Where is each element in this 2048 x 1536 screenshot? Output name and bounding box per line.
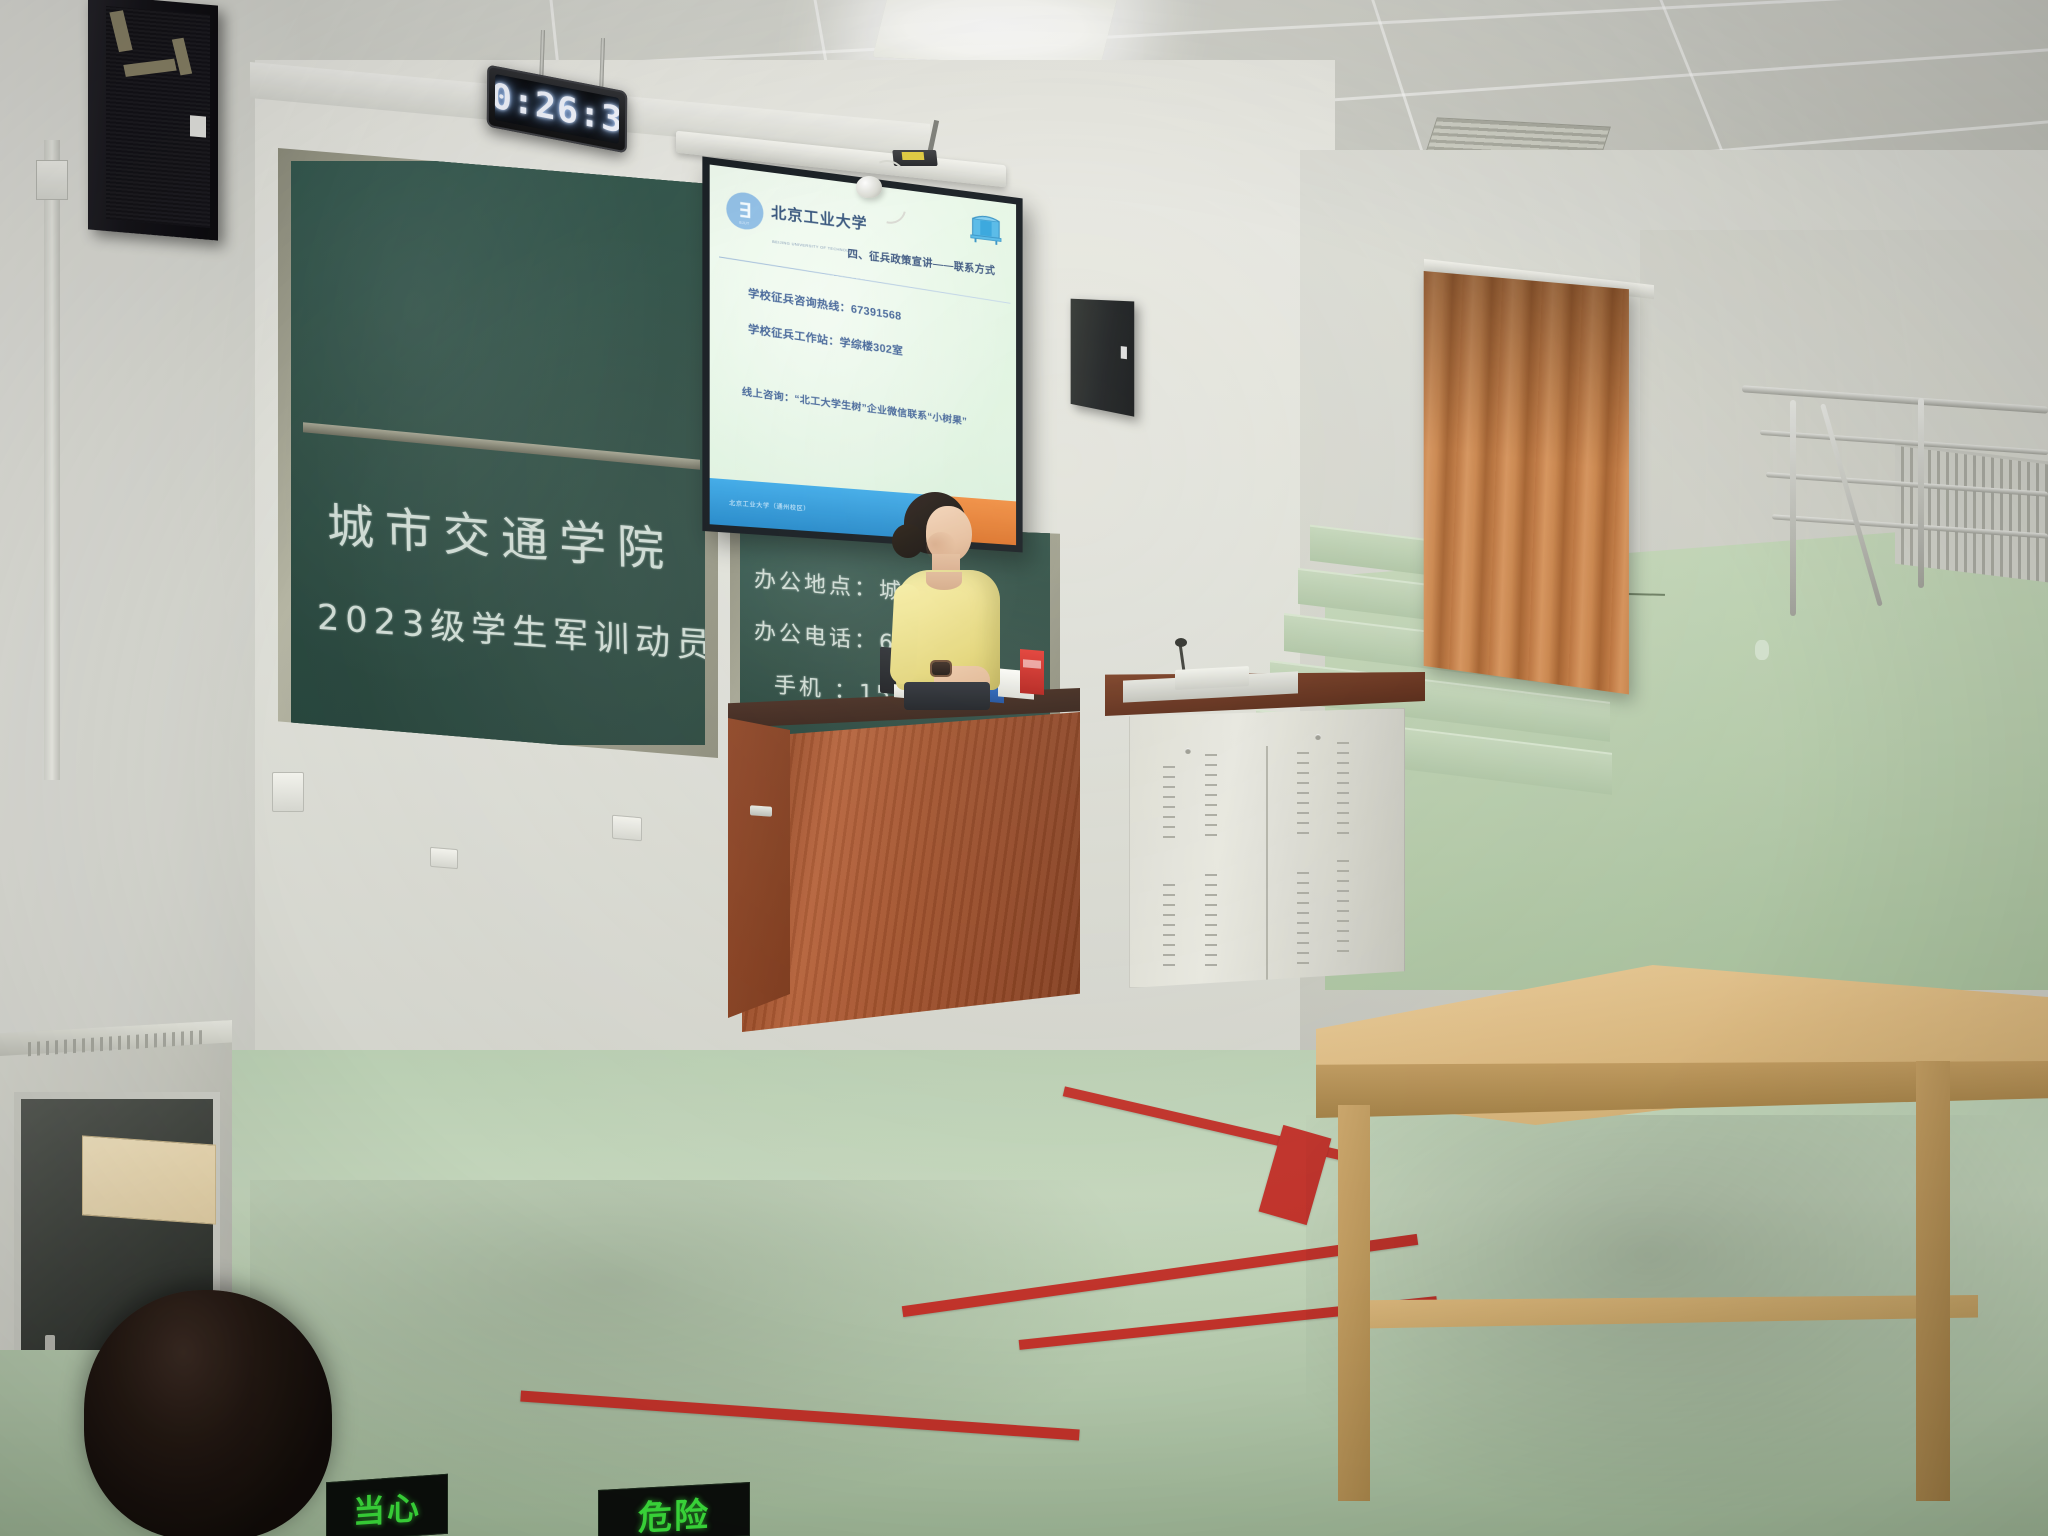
lecture-hall-photo: 10:26:37 城市交通学院 2023级学生军训动员会 办公地点：城建… 办公… bbox=[0, 0, 2048, 1536]
foreground-desk bbox=[1316, 965, 2048, 1536]
presentation-slide: ∃ BJUT 北京工业大学 BEIJING UNIVERSITY OF TECH… bbox=[710, 165, 1016, 546]
warning-sign-1: 当心 bbox=[326, 1474, 448, 1536]
university-logo-icon: ∃ BJUT bbox=[726, 191, 763, 232]
wall-outlet[interactable] bbox=[272, 772, 304, 812]
presenter-collar bbox=[926, 572, 962, 590]
warning-sign-2: 危险 bbox=[598, 1482, 750, 1536]
podium-side-panel bbox=[728, 718, 790, 1018]
blackboard-left-surface: 城市交通学院 2023级学生军训动员会 bbox=[291, 161, 705, 745]
window-curtain bbox=[1424, 271, 1629, 694]
desk-leg bbox=[1916, 1061, 1950, 1501]
slide-footer-text: 北京工业大学（通州校区） bbox=[729, 498, 810, 513]
av-console bbox=[1105, 672, 1425, 1002]
slide-title: 四、征兵政策宣讲——联系方式 bbox=[847, 246, 995, 278]
blackboard-left: 城市交通学院 2023级学生军训动员会 bbox=[278, 148, 718, 758]
railing-post bbox=[1918, 398, 1924, 588]
slide-line-2: 学校征兵工作站：学综楼302室 bbox=[748, 320, 903, 359]
wall-speaker-right bbox=[1071, 299, 1135, 417]
microphone-icon bbox=[1175, 638, 1187, 647]
slide-header: ∃ BJUT 北京工业大学 BEIJING UNIVERSITY OF TECH… bbox=[726, 185, 1008, 292]
wall-outlet[interactable] bbox=[430, 847, 458, 869]
presenter-skirt bbox=[904, 682, 990, 710]
floor-shadow bbox=[250, 1180, 1150, 1520]
ceiling-panel-light bbox=[873, 0, 1118, 67]
slide-line-1: 学校征兵咨询热线：67391568 bbox=[748, 284, 901, 323]
university-name: 北京工业大学 bbox=[771, 201, 867, 234]
podium-front-panel bbox=[742, 712, 1080, 1032]
railing-post bbox=[1790, 400, 1796, 616]
presenter-watch bbox=[932, 662, 950, 675]
university-name-en: BEIJING UNIVERSITY OF TECHNOLOGY bbox=[772, 238, 858, 253]
desk-leg bbox=[1338, 1105, 1370, 1501]
lectern-podium bbox=[728, 688, 1080, 1033]
podium-label bbox=[750, 805, 772, 817]
logo-sub: BJUT bbox=[726, 219, 763, 228]
window-illustration-icon bbox=[969, 212, 1001, 245]
presenter-hair-bun bbox=[892, 524, 924, 558]
slide-line-3: 线上咨询：“北工大学生树”企业微信联系“小树果” bbox=[742, 382, 967, 427]
equipment-label bbox=[902, 152, 925, 160]
warning-sign-1-text: 当心 bbox=[353, 1483, 421, 1534]
logo-mark: ∃ bbox=[739, 201, 750, 222]
presenter-arm bbox=[889, 583, 920, 684]
console-monitor bbox=[1175, 666, 1249, 690]
warning-sign-2-text: 危险 bbox=[638, 1487, 710, 1536]
wooden-board bbox=[82, 1135, 216, 1224]
wall-pipe bbox=[44, 140, 60, 780]
presenter bbox=[880, 492, 1030, 707]
wall-speaker-left bbox=[88, 0, 218, 241]
wall-outlet[interactable] bbox=[612, 815, 642, 842]
console-cabinet bbox=[1129, 708, 1405, 988]
light-switch[interactable] bbox=[36, 160, 68, 200]
foreground-person-head bbox=[84, 1290, 332, 1536]
